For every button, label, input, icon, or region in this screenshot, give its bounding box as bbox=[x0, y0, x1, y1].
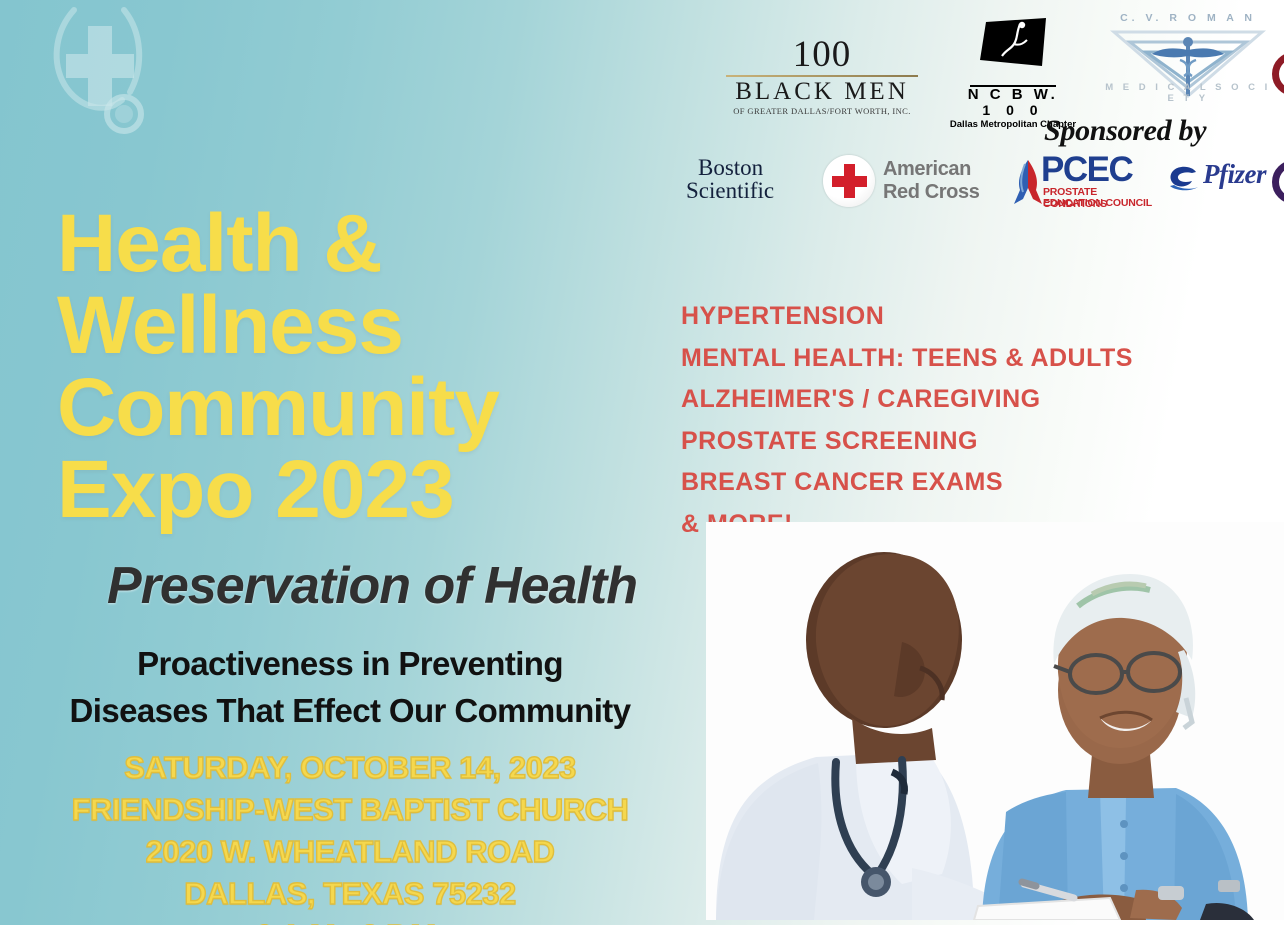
american-red-cross-line2: Red Cross bbox=[883, 181, 979, 204]
cv-roman-top-text: C. V. R O M A N bbox=[1098, 12, 1278, 24]
logo-boston-scientific: Boston Scientific bbox=[686, 156, 816, 202]
tagline: Preservation of Health bbox=[52, 558, 692, 614]
logo-100-black-men: 100 BLACK MEN OF GREATER DALLAS/FORT WOR… bbox=[722, 36, 922, 116]
sub-tagline-line1: Proactiveness in Preventing bbox=[20, 640, 680, 687]
title-line-2: Wellness bbox=[57, 285, 677, 367]
red-cross-icon bbox=[823, 155, 875, 207]
boston-scientific-line2: Scientific bbox=[686, 179, 816, 202]
event-venue: FRIENDSHIP-WEST BAPTIST CHURCH bbox=[20, 794, 680, 825]
sub-tagline-line2: Diseases That Effect Our Community bbox=[20, 687, 680, 734]
logo-american-red-cross: American Red Cross bbox=[823, 155, 1023, 207]
logo-cropped-ring-icon bbox=[1272, 52, 1284, 94]
event-details: SATURDAY, OCTOBER 14, 2023 FRIENDSHIP-WE… bbox=[20, 752, 680, 925]
topic-item: HYPERTENSION bbox=[681, 296, 1281, 338]
boston-scientific-line1: Boston bbox=[686, 156, 816, 179]
doctor-and-patient-photo bbox=[706, 522, 1284, 920]
topic-item: MENTAL HEALTH: TEENS & ADULTS bbox=[681, 338, 1281, 380]
stethoscope-medical-cross-icon bbox=[4, 0, 194, 186]
event-date: SATURDAY, OCTOBER 14, 2023 bbox=[20, 752, 680, 783]
logo-pfizer: Pfizer bbox=[1166, 160, 1276, 200]
flyer-canvas: 100 BLACK MEN OF GREATER DALLAS/FORT WOR… bbox=[0, 0, 1284, 925]
title-line-1: Health & bbox=[57, 203, 677, 285]
logo-cropped-ring2-icon bbox=[1272, 160, 1284, 204]
logo-100-number: 100 bbox=[722, 36, 922, 74]
topic-item: ALZHEIMER'S / CAREGIVING bbox=[681, 379, 1281, 421]
pcec-subtitle-line2: EDUCATION COUNCIL bbox=[1043, 197, 1152, 209]
cv-roman-bottom-text: M E D I C A L S O C I E T Y bbox=[1098, 82, 1278, 104]
event-city: DALLAS, TEXAS 75232 bbox=[20, 878, 680, 909]
topic-item: PROSTATE SCREENING bbox=[681, 421, 1281, 463]
event-time: 9 A.M - 2 P.M. bbox=[20, 920, 680, 925]
logo-100-name: BLACK MEN bbox=[722, 79, 922, 105]
partner-logos-row: 100 BLACK MEN OF GREATER DALLAS/FORT WOR… bbox=[700, 8, 1284, 116]
doctor-patient-illustration bbox=[706, 522, 1284, 920]
topics-list: HYPERTENSION MENTAL HEALTH: TEENS & ADUL… bbox=[681, 296, 1281, 545]
logo-pcec: PCEC PROSTATE CONDITIONS EDUCATION COUNC… bbox=[1011, 154, 1161, 210]
american-red-cross-line1: American bbox=[883, 158, 979, 181]
logo-100-subtitle: OF GREATER DALLAS/FORT WORTH, INC. bbox=[722, 106, 922, 116]
title-line-3: Community bbox=[57, 367, 677, 449]
logo-100-rule bbox=[726, 75, 918, 77]
event-street: 2020 W. WHEATLAND ROAD bbox=[20, 836, 680, 867]
red-cross-horizontal-bar bbox=[832, 176, 867, 187]
american-red-cross-text: American Red Cross bbox=[883, 158, 979, 204]
pcec-acronym: PCEC bbox=[1041, 152, 1132, 188]
topic-item: BREAST CANCER EXAMS bbox=[681, 462, 1281, 504]
ncbw-diamond-figure-icon bbox=[972, 16, 1054, 78]
pfizer-swirl-icon bbox=[1166, 164, 1202, 194]
logo-cv-roman-medical-society: C. V. R O M A N M E D I C A L S O C I E … bbox=[1098, 12, 1278, 112]
pfizer-wordmark: Pfizer bbox=[1203, 159, 1266, 190]
logo-cropped-right-top bbox=[1272, 52, 1284, 94]
sponsor-logos-row: Boston Scientific American Red Cross PCE… bbox=[686, 152, 1284, 210]
title-line-4: Expo 2023 bbox=[57, 449, 677, 531]
sponsored-by-label: Sponsored by bbox=[1044, 114, 1206, 148]
ncbw-acronym: N C B W. bbox=[943, 87, 1083, 103]
awareness-ribbon-icon bbox=[1011, 158, 1045, 206]
page-title: Health & Wellness Community Expo 2023 bbox=[57, 203, 677, 531]
logo-cropped-right-bottom bbox=[1272, 160, 1284, 204]
sub-tagline: Proactiveness in Preventing Diseases Tha… bbox=[20, 640, 680, 734]
